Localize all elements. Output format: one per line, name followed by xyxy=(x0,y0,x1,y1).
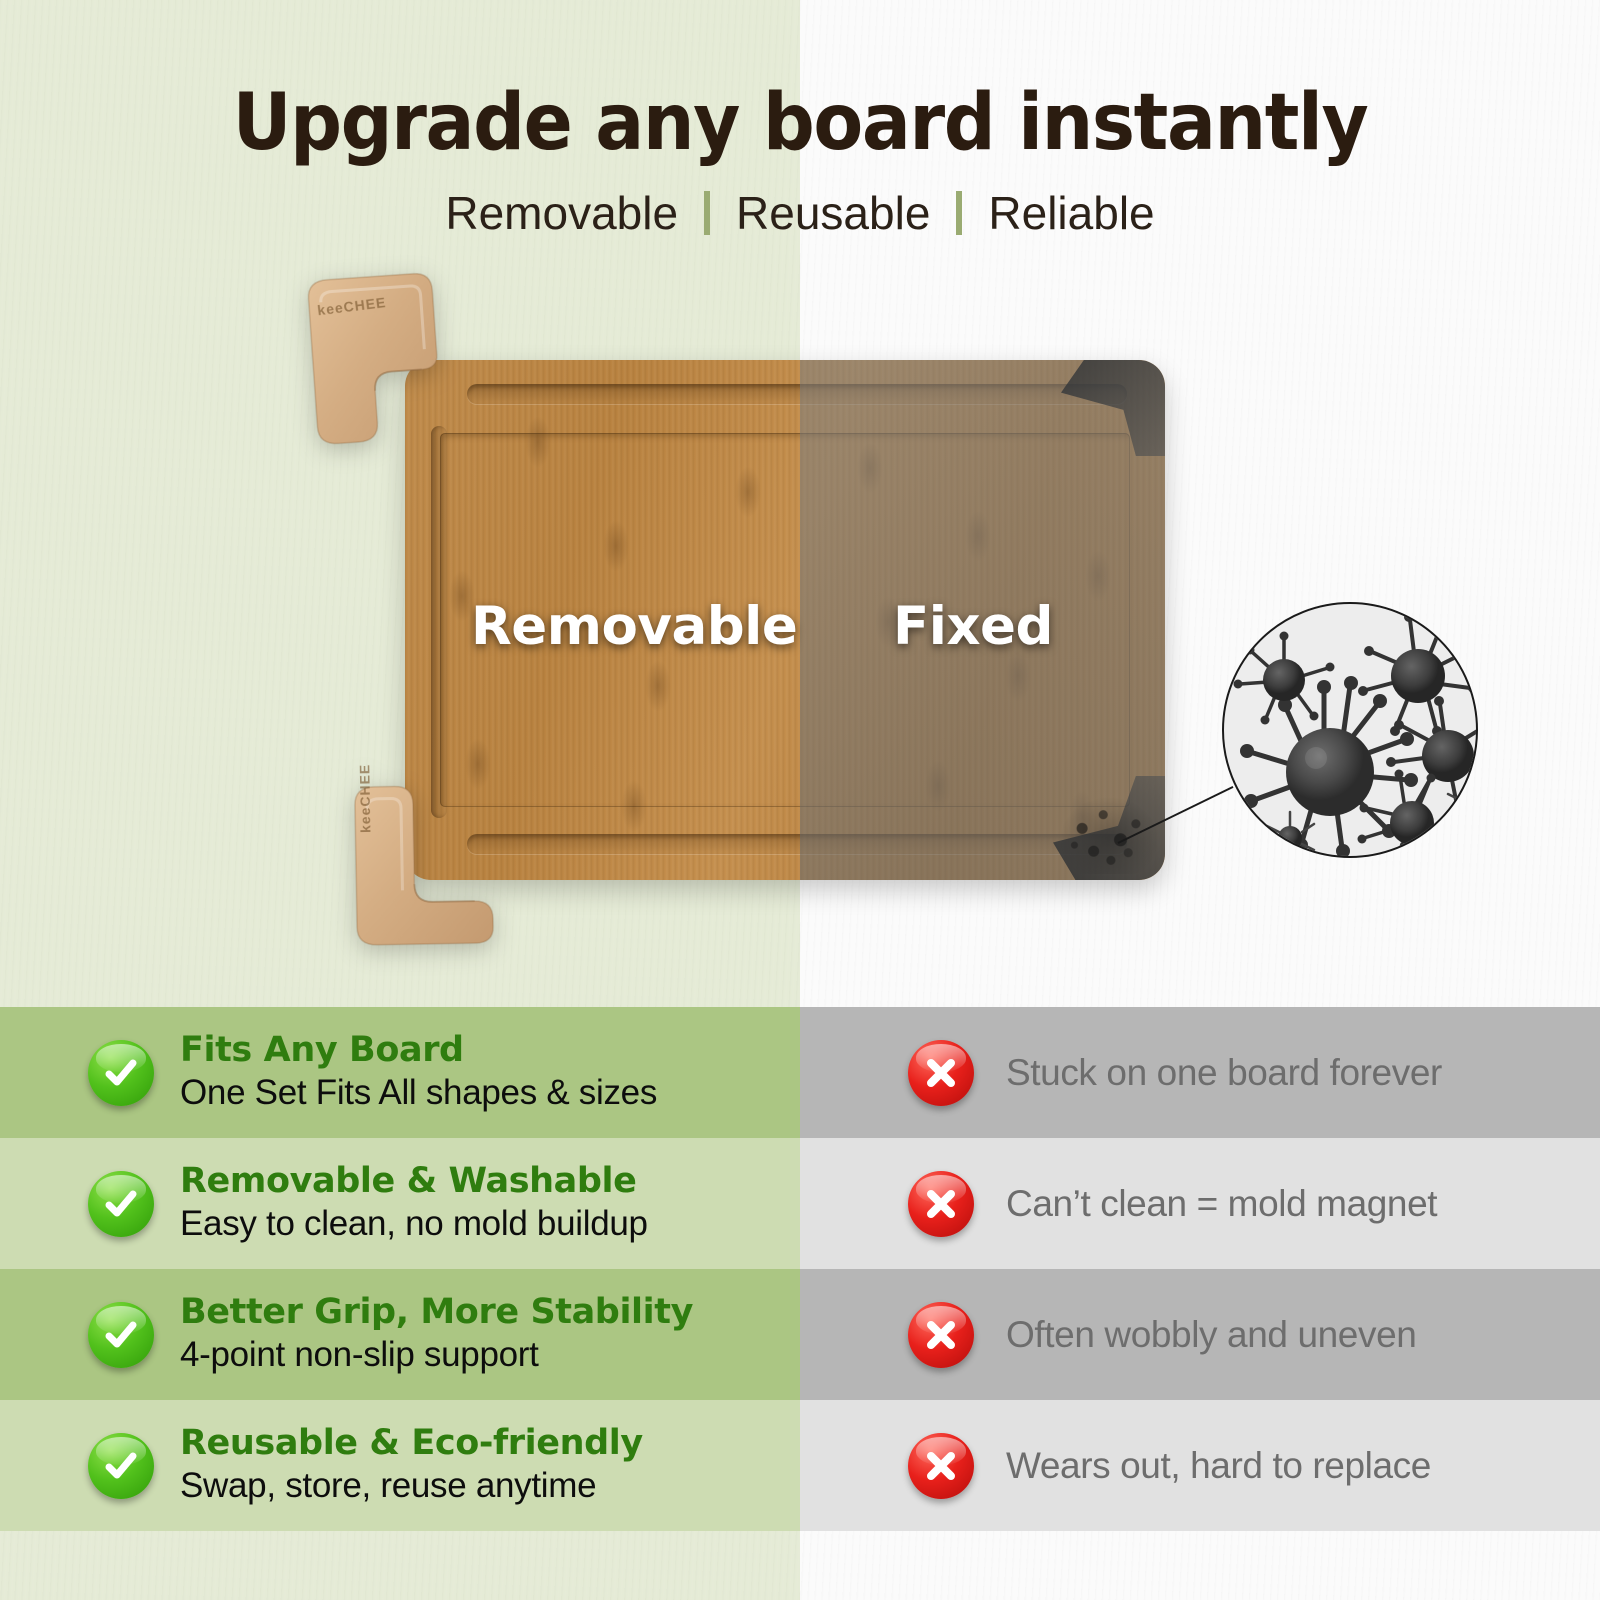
pro-subtitle: 4-point non-slip support xyxy=(180,1334,693,1375)
removable-corner-protector-bottom: keeCHEE xyxy=(347,779,500,950)
con-cell: Stuck on one board forever xyxy=(800,1007,1600,1138)
pro-title: Fits Any Board xyxy=(180,1031,657,1070)
comparison-row: Fits Any Board One Set Fits All shapes &… xyxy=(0,1007,1600,1138)
pro-text: Fits Any Board One Set Fits All shapes &… xyxy=(180,1031,657,1113)
cross-icon xyxy=(908,1302,974,1368)
check-glyph xyxy=(103,1317,139,1353)
cross-icon xyxy=(908,1433,974,1499)
pro-title: Removable & Washable xyxy=(180,1162,648,1201)
con-text: Can’t clean = mold magnet xyxy=(1006,1183,1437,1225)
con-cell: Can’t clean = mold magnet xyxy=(800,1138,1600,1269)
check-glyph xyxy=(103,1448,139,1484)
infographic-page: Upgrade any board instantly Removable Re… xyxy=(0,0,1600,1600)
pro-text: Better Grip, More Stability 4-point non-… xyxy=(180,1293,693,1375)
cross-icon xyxy=(908,1040,974,1106)
comparison-row: Better Grip, More Stability 4-point non-… xyxy=(0,1269,1600,1400)
con-cell: Often wobbly and uneven xyxy=(800,1269,1600,1400)
check-icon xyxy=(88,1302,154,1368)
con-text: Wears out, hard to replace xyxy=(1006,1445,1431,1487)
page-title: Upgrade any board instantly xyxy=(56,78,1544,168)
con-text: Stuck on one board forever xyxy=(1006,1052,1442,1094)
germ-cluster-icon xyxy=(1224,604,1478,858)
comparison-table: Fits Any Board One Set Fits All shapes &… xyxy=(0,1007,1600,1531)
pro-title: Better Grip, More Stability xyxy=(180,1293,693,1332)
con-text: Often wobbly and uneven xyxy=(1006,1314,1416,1356)
header: Upgrade any board instantly Removable Re… xyxy=(0,0,1600,240)
con-cell: Wears out, hard to replace xyxy=(800,1400,1600,1531)
check-icon xyxy=(88,1040,154,1106)
cross-glyph xyxy=(924,1187,958,1221)
germ-magnifier xyxy=(1222,602,1478,858)
pro-subtitle: One Set Fits All shapes & sizes xyxy=(180,1072,657,1113)
comparison-row: Reusable & Eco-friendly Swap, store, reu… xyxy=(0,1400,1600,1531)
cross-glyph xyxy=(924,1449,958,1483)
cutting-board-assembly: Removable Fixed keeCHEE xyxy=(405,360,1165,880)
subtitle-word-2: Reusable xyxy=(710,186,956,240)
subtitle-row: Removable Reusable Reliable xyxy=(0,186,1600,240)
pro-title: Reusable & Eco-friendly xyxy=(180,1424,643,1463)
pro-cell: Fits Any Board One Set Fits All shapes &… xyxy=(0,1007,800,1138)
board-label-removable: Removable xyxy=(471,596,797,657)
pro-text: Reusable & Eco-friendly Swap, store, reu… xyxy=(180,1424,643,1506)
fixed-corner-protector-top-right xyxy=(1061,360,1165,456)
pro-cell: Better Grip, More Stability 4-point non-… xyxy=(0,1269,800,1400)
board-label-fixed: Fixed xyxy=(893,596,1053,657)
check-icon xyxy=(88,1433,154,1499)
pro-cell: Reusable & Eco-friendly Swap, store, reu… xyxy=(0,1400,800,1531)
mold-buildup-patch xyxy=(1061,798,1157,874)
cross-icon xyxy=(908,1171,974,1237)
cross-glyph xyxy=(924,1056,958,1090)
pro-cell: Removable & Washable Easy to clean, no m… xyxy=(0,1138,800,1269)
comparison-row: Removable & Washable Easy to clean, no m… xyxy=(0,1138,1600,1269)
brand-label: keeCHEE xyxy=(356,764,373,834)
hero-product-area: Removable Fixed keeCHEE xyxy=(0,250,1600,990)
subtitle-word-1: Removable xyxy=(419,186,704,240)
cross-glyph xyxy=(924,1318,958,1352)
subtitle-word-3: Reliable xyxy=(962,186,1180,240)
check-glyph xyxy=(103,1186,139,1222)
check-glyph xyxy=(103,1055,139,1091)
pro-subtitle: Swap, store, reuse anytime xyxy=(180,1465,643,1506)
check-icon xyxy=(88,1171,154,1237)
pro-text: Removable & Washable Easy to clean, no m… xyxy=(180,1162,648,1244)
removable-corner-protector-top: keeCHEE xyxy=(289,268,451,453)
pro-subtitle: Easy to clean, no mold buildup xyxy=(180,1203,648,1244)
